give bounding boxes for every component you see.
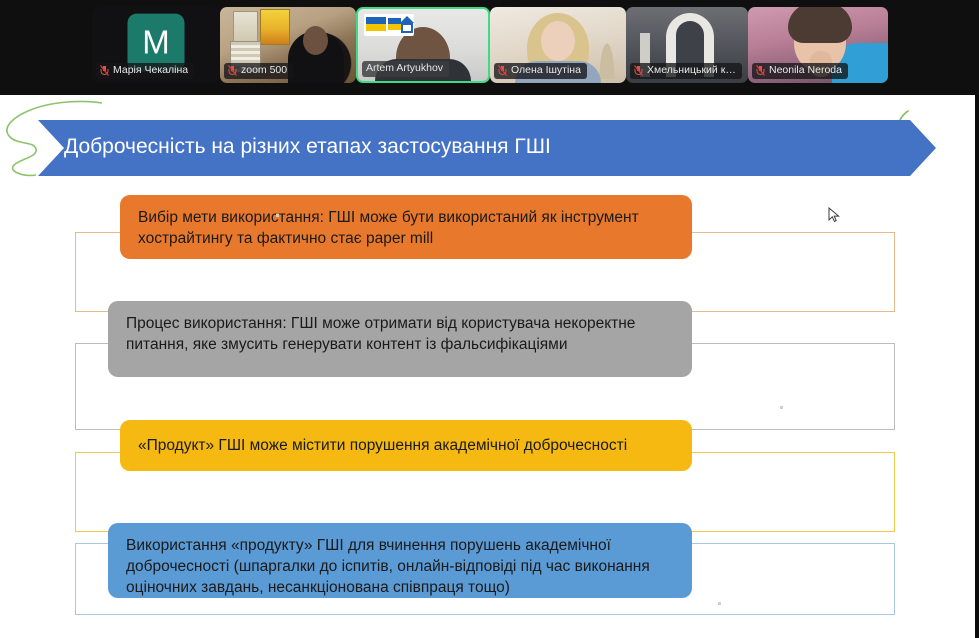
stage-pill-2: Процес використання: ГШІ може отримати в… xyxy=(108,301,692,377)
background-poster xyxy=(233,11,258,43)
slide-title: Доброчесність на різних етапах застосува… xyxy=(64,133,894,161)
mic-off-icon xyxy=(498,65,507,76)
stray-mark xyxy=(718,602,721,605)
participant-tile-neonila-neroda[interactable]: Neonila Neroda xyxy=(748,7,888,83)
participant-tile-maria[interactable]: M Марія Чекаліна xyxy=(92,7,220,83)
person-hair xyxy=(788,7,852,43)
participant-name: Artem Artyukhov xyxy=(366,62,443,75)
participant-name: Олена Ішутіна xyxy=(511,64,581,77)
participant-tile-olena[interactable]: Олена Ішутіна xyxy=(490,7,626,83)
participant-tile-zoom500[interactable]: zoom 500 xyxy=(220,7,356,83)
participant-name-badge: zoom 500 xyxy=(224,63,293,79)
stray-mark xyxy=(276,214,279,217)
stage-pill-4: Використання «продукту» ГШІ для вчинення… xyxy=(108,523,692,598)
background-plant xyxy=(594,17,620,79)
participant-name-badge: Neonila Neroda xyxy=(752,63,848,79)
mic-off-icon xyxy=(228,65,237,76)
person-head xyxy=(303,26,328,55)
ukrrio-logo-icon xyxy=(364,14,414,36)
mic-off-icon xyxy=(100,65,109,76)
stage-pill-1: Вибір мети використання: ГШІ може бути в… xyxy=(120,195,692,259)
participant-name: zoom 500 xyxy=(241,64,287,77)
mic-off-icon xyxy=(756,65,765,76)
participant-name-badge: Олена Ішутіна xyxy=(494,63,587,79)
participant-name: Neonila Neroda xyxy=(769,64,842,77)
background-poster xyxy=(260,9,290,45)
slide-right-edge xyxy=(975,95,979,638)
participant-name: Марія Чекаліна xyxy=(113,64,188,77)
participant-name: Хмельницький коопе… xyxy=(647,64,736,77)
participant-tile-artem-artyukhov[interactable]: Artem Artyukhov xyxy=(356,7,490,83)
participant-name-badge: Artem Artyukhov xyxy=(362,61,449,77)
person-face xyxy=(541,21,575,61)
participant-name-badge: Марія Чекаліна xyxy=(96,63,194,79)
video-filmstrip: M Марія Чекаліна zoom 500 Arte xyxy=(0,0,979,95)
stray-mark xyxy=(780,406,783,409)
participant-name-badge: Хмельницький коопе… xyxy=(630,63,742,79)
participant-tile-khmelnytskyi[interactable]: Хмельницький коопе… xyxy=(626,7,748,83)
shared-slide: Доброчесність на різних етапах застосува… xyxy=(0,95,975,638)
stage-pill-3: «Продукт» ГШІ може містити порушення ака… xyxy=(120,420,692,471)
mouse-cursor-icon xyxy=(828,207,840,223)
mic-off-icon xyxy=(634,65,643,76)
